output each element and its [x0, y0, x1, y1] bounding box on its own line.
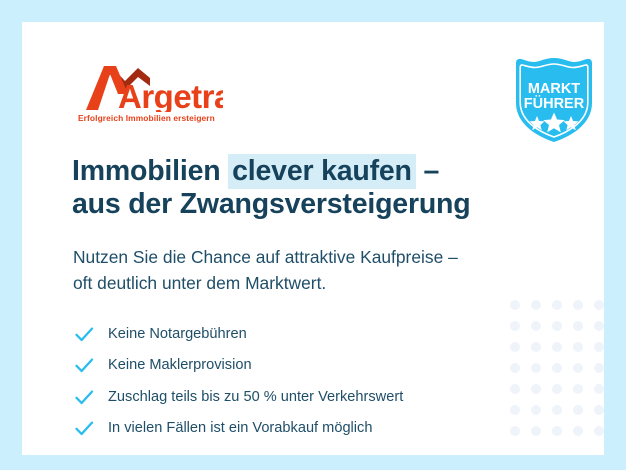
list-item: Keine Notargebühren: [73, 318, 543, 350]
dot: [573, 300, 583, 310]
check-icon: [73, 417, 95, 439]
outer-frame: Argetra Erfolgreich Immobilien ersteiger…: [0, 0, 626, 470]
dot: [552, 405, 562, 415]
badge-line1: MARKT: [528, 81, 580, 97]
subtitle-line-2: oft deutlich unter dem Marktwert.: [73, 270, 573, 296]
dot: [573, 384, 583, 394]
badge-line2: FÜHRER: [524, 95, 585, 112]
argetra-logo-mark: Argetra: [78, 64, 223, 112]
dot: [552, 321, 562, 331]
page-title: Immobilien clever kaufen – aus der Zwang…: [72, 155, 572, 221]
dot: [594, 384, 604, 394]
dot: [552, 342, 562, 352]
dot: [510, 300, 520, 310]
dot: [552, 384, 562, 394]
dot: [594, 405, 604, 415]
headline-highlight: clever kaufen: [228, 154, 416, 189]
dot: [594, 342, 604, 352]
check-icon: [73, 323, 95, 345]
dot: [573, 363, 583, 373]
dot: [531, 300, 541, 310]
dot: [573, 405, 583, 415]
argetra-logo[interactable]: Argetra Erfolgreich Immobilien ersteiger…: [78, 64, 223, 124]
headline-suffix: –: [416, 155, 439, 187]
dot: [552, 300, 562, 310]
benefits-list: Keine Notargebühren Keine Maklerprovisio…: [73, 318, 543, 444]
check-icon: [73, 386, 95, 408]
check-icon: [73, 354, 95, 376]
marktfuehrer-badge: MARKT FÜHRER: [511, 56, 597, 144]
headline-line-1: Immobilien clever kaufen –: [72, 155, 572, 188]
dot: [594, 363, 604, 373]
dot: [573, 426, 583, 436]
headline-prefix: Immobilien: [72, 155, 228, 187]
dot: [573, 321, 583, 331]
dot: [573, 342, 583, 352]
logo-tagline: Erfolgreich Immobilien ersteigern: [78, 113, 215, 123]
subtitle-line-1: Nutzen Sie die Chance auf attraktive Kau…: [73, 244, 573, 270]
list-item-label: Keine Notargebühren: [108, 324, 247, 344]
list-item: Keine Maklerprovision: [73, 350, 543, 382]
shield-icon: MARKT FÜHRER: [511, 56, 597, 144]
dot: [594, 321, 604, 331]
list-item-label: Keine Maklerprovision: [108, 355, 252, 375]
dot: [594, 426, 604, 436]
svg-text:Argetra: Argetra: [118, 78, 223, 112]
dot: [594, 300, 604, 310]
list-item: Zuschlag teils bis zu 50 % unter Verkehr…: [73, 381, 543, 413]
dot: [552, 426, 562, 436]
headline-line-2: aus der Zwangsversteigerung: [72, 188, 572, 221]
list-item-label: Zuschlag teils bis zu 50 % unter Verkehr…: [108, 387, 403, 407]
list-item: In vielen Fällen ist ein Vorabkauf mögli…: [73, 413, 543, 445]
subtitle: Nutzen Sie die Chance auf attraktive Kau…: [73, 244, 573, 296]
promo-card: Argetra Erfolgreich Immobilien ersteiger…: [22, 22, 604, 455]
list-item-label: In vielen Fällen ist ein Vorabkauf mögli…: [108, 418, 372, 438]
dot: [552, 363, 562, 373]
